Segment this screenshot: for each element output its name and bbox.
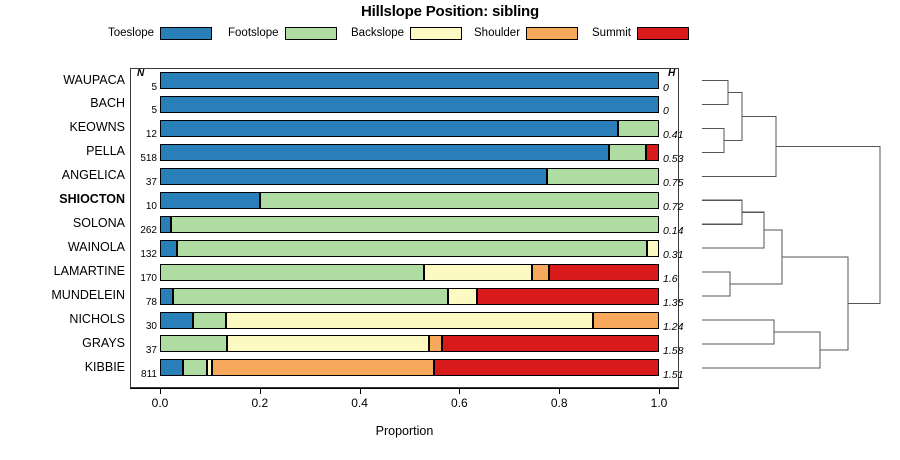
legend: ToeslopeFootslopeBackslopeShoulderSummit xyxy=(108,25,768,41)
row-label-pella: PELLA xyxy=(0,144,125,158)
row-label-wainola: WAINOLA xyxy=(0,240,125,254)
dendro-link-shiocton-solona xyxy=(702,200,742,224)
legend-item-summit[interactable]: Summit xyxy=(592,25,689,41)
dendro-link-f-g xyxy=(730,230,782,284)
dendro-link-nichols-grays xyxy=(702,320,774,344)
chart-root: Hillslope Position: sibling ToeslopeFoot… xyxy=(0,0,900,460)
page-title: Hillslope Position: sibling xyxy=(0,3,900,20)
dendro-link-keowns-pella xyxy=(702,128,724,152)
dendro-link-h-j xyxy=(782,257,848,350)
x-tick-label: 0.2 xyxy=(240,396,280,410)
dendrogram xyxy=(690,60,900,395)
legend-item-toeslope[interactable]: Toeslope xyxy=(108,25,212,41)
legend-label: Footslope xyxy=(228,25,279,41)
x-tick xyxy=(659,388,660,394)
legend-item-backslope[interactable]: Backslope xyxy=(351,25,462,41)
x-tick xyxy=(260,388,261,394)
row-label-kibbie: KIBBIE xyxy=(0,360,125,374)
dendro-link-c-angelica xyxy=(702,116,776,176)
x-tick-label: 0.0 xyxy=(140,396,180,410)
legend-label: Backslope xyxy=(351,25,404,41)
legend-label: Toeslope xyxy=(108,25,154,41)
x-tick xyxy=(160,388,161,394)
legend-label: Shoulder xyxy=(474,25,520,41)
x-tick-label: 0.4 xyxy=(340,396,380,410)
row-label-keowns: KEOWNS xyxy=(0,120,125,134)
row-label-nichols: NICHOLS xyxy=(0,312,125,326)
dendro-link-waupaca-bach xyxy=(702,81,728,105)
row-label-bach: BACH xyxy=(0,96,125,110)
legend-swatch-toeslope xyxy=(160,27,212,40)
dendro-link-root xyxy=(776,146,880,303)
dendro-link-ab xyxy=(724,93,742,141)
dendro-link-i-kibbie xyxy=(702,332,820,368)
row-label-solona: SOLONA xyxy=(0,216,125,230)
legend-label: Summit xyxy=(592,25,631,41)
row-label-angelica: ANGELICA xyxy=(0,168,125,182)
dendrogram-svg xyxy=(690,60,900,395)
row-label-waupaca: WAUPACA xyxy=(0,73,125,87)
legend-swatch-footslope xyxy=(285,27,337,40)
dendro-link-e-wainola xyxy=(702,212,764,248)
legend-item-footslope[interactable]: Footslope xyxy=(228,25,337,41)
dendro-link-lamartine-mundelein xyxy=(702,272,730,296)
x-tick-label: 0.8 xyxy=(539,396,579,410)
legend-swatch-shoulder xyxy=(526,27,578,40)
x-tick-label: 1.0 xyxy=(639,396,679,410)
row-label-grays: GRAYS xyxy=(0,336,125,350)
x-tick xyxy=(360,388,361,394)
x-axis-title: Proportion xyxy=(130,424,679,438)
legend-swatch-backslope xyxy=(410,27,462,40)
row-label-lamartine: LAMARTINE xyxy=(0,264,125,278)
legend-item-shoulder[interactable]: Shoulder xyxy=(474,25,578,41)
x-tick-label: 0.6 xyxy=(439,396,479,410)
row-label-mundelein: MUNDELEIN xyxy=(0,288,125,302)
plot-panel xyxy=(130,68,679,388)
row-label-shiocton: SHIOCTON xyxy=(0,192,125,206)
x-tick xyxy=(559,388,560,394)
x-tick xyxy=(459,388,460,394)
x-axis-line xyxy=(130,388,679,389)
legend-swatch-summit xyxy=(637,27,689,40)
